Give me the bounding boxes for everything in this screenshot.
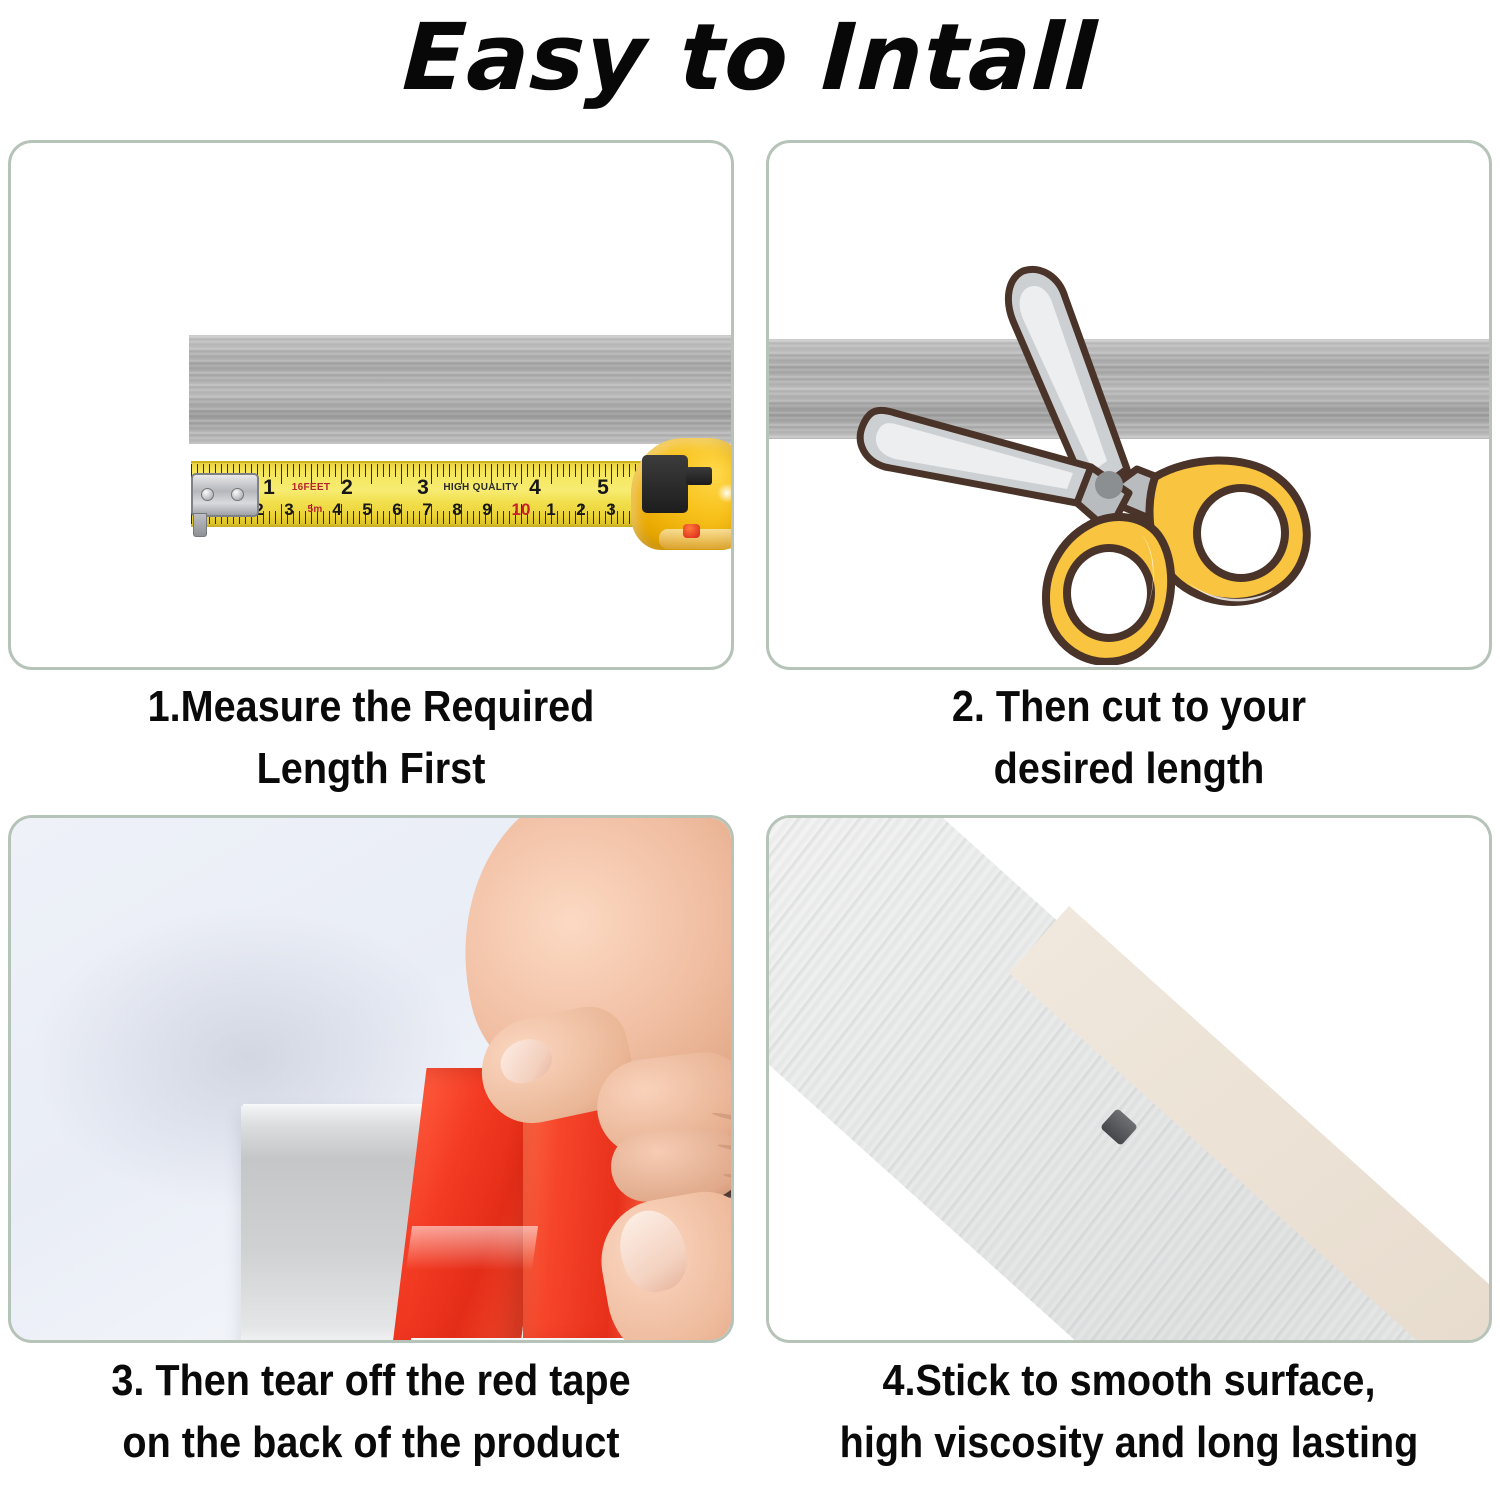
tape-cm-mark: 7 — [422, 499, 431, 521]
tape-cm-mark: 9 — [482, 499, 491, 521]
tape-cm-mark: 6 — [392, 499, 401, 521]
highlight-glint-icon — [717, 483, 734, 503]
tape-cm-mark: 3 — [606, 499, 615, 521]
tape-cm-mark: 5 — [362, 499, 371, 521]
tape-measure-lock-lever — [686, 467, 712, 485]
step-3-caption: 3. Then tear off the red tape on the bac… — [44, 1350, 697, 1475]
tape-cm-mark: 3 — [284, 499, 293, 521]
tape-cm-mark: 2 — [576, 499, 585, 521]
tape-cm-mark: 8 — [452, 499, 461, 521]
tape-inch-mark: 3 — [417, 477, 429, 499]
step-1-image-panel: 1 16FEET 2 3 HIGH QUALITY 4 5 6 2 3 5m 4… — [8, 140, 734, 670]
tape-cm-mark: 4 — [332, 499, 341, 521]
caption-line: 2. Then cut to your — [802, 676, 1455, 738]
tape-inch-mark: 5 — [597, 477, 609, 499]
scissors-icon — [837, 261, 1357, 665]
step-2-image-panel — [766, 140, 1492, 670]
tape-cm-mark: 1 — [546, 499, 555, 521]
tape-cm-scale: 2 3 5m 4 5 6 7 8 9 10 1 2 3 4 — [191, 499, 661, 521]
tape-measure-hook — [191, 473, 259, 517]
tape-measure-lock-button — [642, 455, 688, 513]
step-2-caption: 2. Then cut to your desired length — [802, 676, 1455, 801]
caption-line: 1.Measure the Required — [44, 676, 697, 738]
caption-line: on the back of the product — [44, 1412, 697, 1474]
tape-inch-mark: 4 — [529, 477, 541, 499]
tape-measure-blade: 1 16FEET 2 3 HIGH QUALITY 4 5 6 2 3 5m 4… — [191, 461, 661, 527]
installed-strip-photo — [769, 818, 1489, 1340]
tape-cm-mark: 10 — [512, 499, 531, 521]
step-4-image-panel — [766, 815, 1492, 1343]
tape-inch-mark: 2 — [341, 477, 353, 499]
step-1-caption: 1.Measure the Required Length First — [44, 676, 697, 801]
red-tape-fold-highlight — [406, 1226, 538, 1270]
caption-line: Length First — [44, 738, 697, 800]
tape-length-metric-label: 5m — [307, 499, 322, 521]
caption-line: 4.Stick to smooth surface, — [802, 1350, 1455, 1412]
product-strip-grey-wood — [189, 335, 734, 444]
tape-inch-scale: 1 16FEET 2 3 HIGH QUALITY 4 5 6 — [191, 477, 661, 499]
page-title: Easy to Intall — [0, 2, 1500, 114]
tape-measure-hook-tab — [193, 513, 207, 537]
caption-line: high viscosity and long lasting — [802, 1412, 1455, 1474]
caption-line: 3. Then tear off the red tape — [44, 1350, 697, 1412]
tape-inch-mark: 1 — [263, 477, 275, 499]
caption-line: desired length — [802, 738, 1455, 800]
tape-brand-label: HIGH QUALITY — [443, 477, 518, 499]
step-3-image-panel — [8, 815, 734, 1343]
step-4-caption: 4.Stick to smooth surface, high viscosit… — [802, 1350, 1455, 1475]
peel-tape-photo — [11, 818, 731, 1340]
tape-length-imperial-label: 16FEET — [292, 477, 330, 499]
tape-measure-release-button — [683, 524, 700, 538]
